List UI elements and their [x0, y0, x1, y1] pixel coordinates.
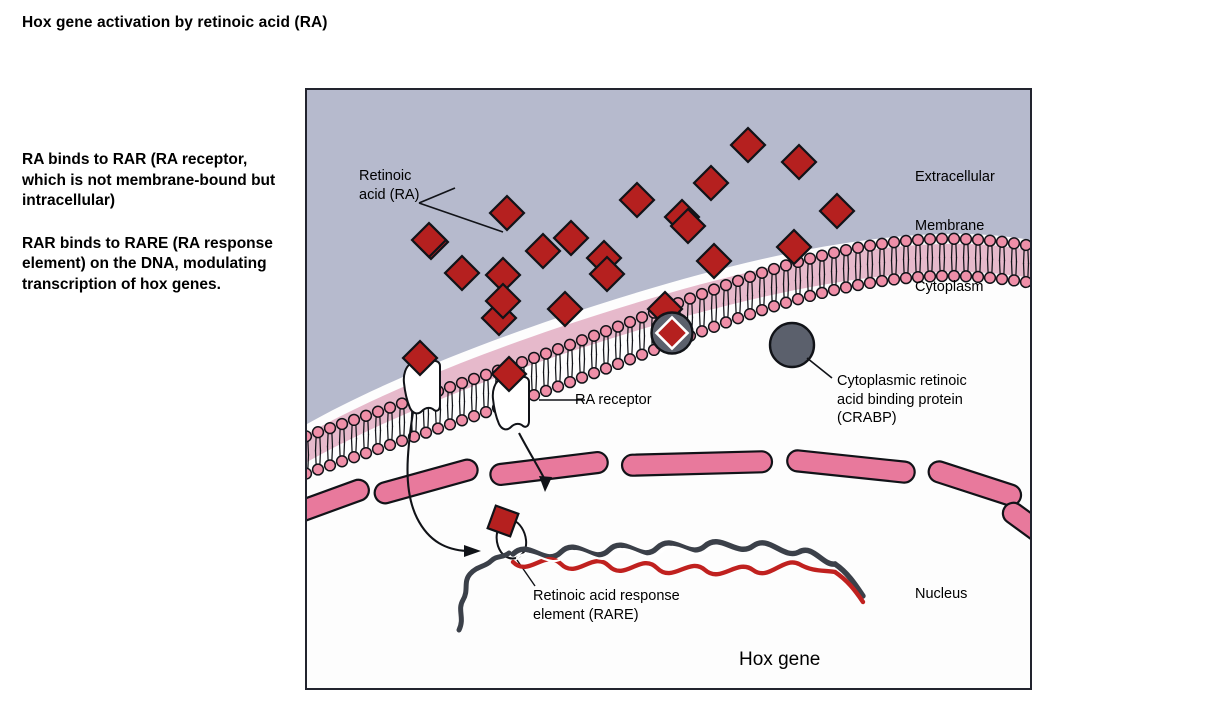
dna-bound-receptor	[488, 506, 535, 586]
crabp-free	[770, 323, 832, 378]
dna-double-helix	[513, 542, 835, 575]
nuclear-envelope	[307, 449, 1030, 566]
crabp-ra-complex	[652, 313, 693, 354]
sidebar-note-1: RA binds to RAR (RA receptor, which is n…	[22, 150, 277, 212]
page-title: Hox gene activation by retinoic acid (RA…	[22, 14, 328, 32]
label-retinoic-acid: Retinoic acid (RA)	[359, 167, 419, 204]
figure-panel: Extracellular Membrane Cytoplasm Retinoi…	[305, 88, 1032, 690]
label-crabp: Cytoplasmic retinoic acid binding protei…	[837, 372, 967, 428]
label-ra-receptor: RA receptor	[575, 391, 652, 410]
label-hox-gene: Hox gene	[739, 648, 820, 672]
label-nucleus: Nucleus	[915, 585, 967, 604]
label-cytoplasm: Cytoplasm	[915, 278, 984, 297]
label-rare: Retinoic acid response element (RARE)	[533, 587, 680, 624]
dna-tail-right	[835, 564, 863, 602]
sidebar-notes: RA binds to RAR (RA receptor, which is n…	[22, 150, 277, 318]
label-extracellular: Extracellular	[915, 168, 995, 187]
label-membrane: Membrane	[915, 217, 984, 236]
dna-single-strand	[459, 553, 509, 630]
crabp-leader-line	[807, 358, 832, 378]
sidebar-note-2: RAR binds to RARE (RA response element) …	[22, 234, 277, 296]
